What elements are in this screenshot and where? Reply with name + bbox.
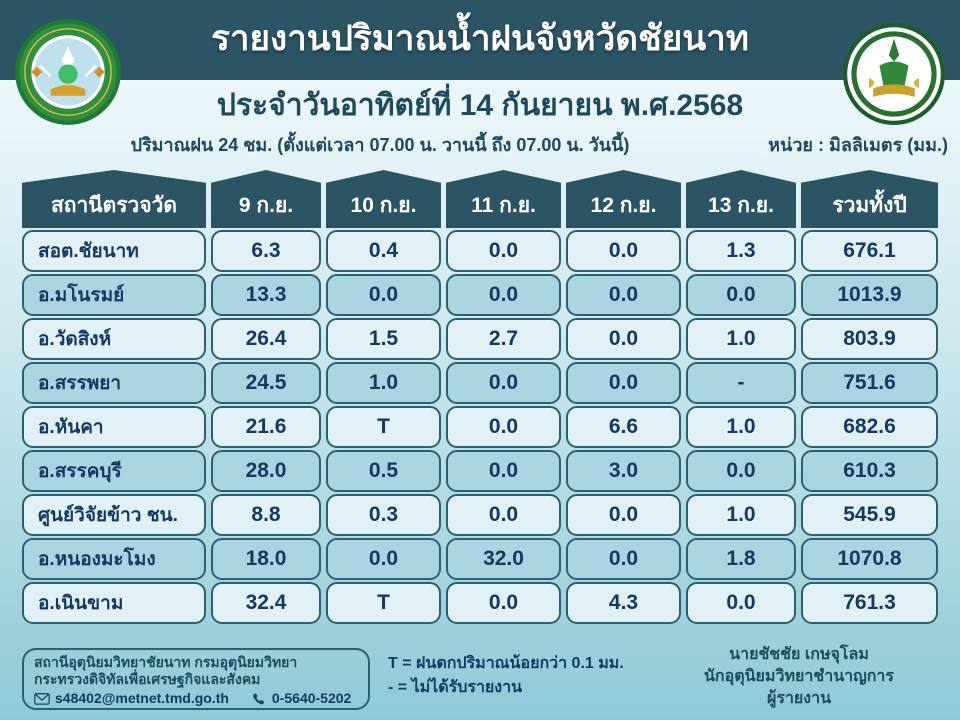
column-header-6[interactable]: รวมทั้งปี [801, 170, 938, 228]
signer-title: นักอุตุนิยมวิทยาชำนาญการ [654, 666, 944, 688]
column-header-2[interactable]: 10 ก.ย. [326, 170, 441, 228]
value-cell: 0.0 [566, 362, 681, 404]
office-contact-box: สถานีอุตุนิยมวิทยาชัยนาท กรมอุตุนิยมวิทย… [22, 648, 370, 710]
value-cell: 1070.8 [801, 538, 938, 580]
rainfall-report-infographic: รายงานปริมาณน้ำฝนจังหวัดชัยนาท ประจำวันอ… [0, 0, 960, 720]
value-cell: 0.0 [566, 230, 681, 272]
column-header-1[interactable]: 9 ก.ย. [211, 170, 321, 228]
station-name-cell: อ.หันคา [22, 406, 206, 448]
value-cell: 0.0 [566, 318, 681, 360]
value-cell: 6.6 [566, 406, 681, 448]
legend-trace: T = ฝนตกปริมาณน้อยกว่า 0.1 มม. [388, 652, 688, 676]
station-name-cell: อ.หนองมะโมง [22, 538, 206, 580]
value-cell: 0.4 [326, 230, 441, 272]
station-name-cell: ศูนย์วิจัยข้าว ชน. [22, 494, 206, 536]
value-cell: 0.0 [326, 274, 441, 316]
period-note: ปริมาณฝน 24 ชม. (ตั้งแต่เวลา 07.00 น. วา… [40, 130, 720, 159]
station-name-cell: อ.สรรพยา [22, 362, 206, 404]
table-column-6: รวมทั้งปี676.11013.9803.9751.6682.6610.3… [801, 170, 938, 624]
value-cell: 32.4 [211, 582, 321, 624]
station-name-cell: สอต.ชัยนาท [22, 230, 206, 272]
legend-no-report: - = ไม่ได้รับรายงาน [388, 676, 688, 700]
value-cell: 24.5 [211, 362, 321, 404]
value-cell: 0.5 [326, 450, 441, 492]
value-cell: T [326, 406, 441, 448]
meteorological-department-logo [14, 18, 122, 126]
value-cell: 0.0 [566, 538, 681, 580]
value-cell: 1.0 [686, 406, 796, 448]
value-cell: 2.7 [446, 318, 561, 360]
signer-role: ผู้รายงาน [654, 688, 944, 710]
value-cell: 21.6 [211, 406, 321, 448]
station-name-cell: อ.มโนรมย์ [22, 274, 206, 316]
value-cell: 13.3 [211, 274, 321, 316]
table-column-0: สถานีตรวจวัดสอต.ชัยนาทอ.มโนรมย์อ.วัดสิงห… [22, 170, 206, 624]
column-header-4[interactable]: 12 ก.ย. [566, 170, 681, 228]
value-cell: 26.4 [211, 318, 321, 360]
value-cell: 0.0 [446, 494, 561, 536]
envelope-icon [34, 691, 50, 706]
value-cell: 1013.9 [801, 274, 938, 316]
column-header-3[interactable]: 11 ก.ย. [446, 170, 561, 228]
table-column-4: 12 ก.ย.0.00.00.00.06.63.00.00.04.3 [566, 170, 681, 624]
office-phone[interactable]: 0-5640-5202 [272, 689, 351, 707]
ministry-digital-economy-society-logo [842, 22, 946, 126]
value-cell: 0.0 [446, 406, 561, 448]
office-line-2: กระทรวงดิจิทัลเพื่อเศรษฐกิจและสังคม [34, 671, 360, 688]
value-cell: 751.6 [801, 362, 938, 404]
value-cell: 1.0 [686, 318, 796, 360]
value-cell: 1.8 [686, 538, 796, 580]
value-cell: 0.0 [686, 274, 796, 316]
table-column-1: 9 ก.ย.6.313.326.424.521.628.08.818.032.4 [211, 170, 321, 624]
value-cell: 610.3 [801, 450, 938, 492]
value-cell: 0.0 [566, 274, 681, 316]
station-name-cell: อ.วัดสิงห์ [22, 318, 206, 360]
office-line-1: สถานีอุตุนิยมวิทยาชัยนาท กรมอุตุนิยมวิทย… [34, 654, 360, 671]
station-name-cell: อ.เนินขาม [22, 582, 206, 624]
value-cell: 1.3 [686, 230, 796, 272]
column-header-5[interactable]: 13 ก.ย. [686, 170, 796, 228]
value-cell: 0.0 [566, 494, 681, 536]
value-cell: 3.0 [566, 450, 681, 492]
value-cell: 0.0 [326, 538, 441, 580]
report-date: ประจำวันอาทิตย์ที่ 14 กันยายน พ.ศ.2568 [120, 88, 840, 124]
value-cell: 18.0 [211, 538, 321, 580]
page-title: รายงานปริมาณน้ำฝนจังหวัดชัยนาท [120, 14, 840, 64]
table-column-2: 10 ก.ย.0.40.01.51.0T0.50.30.0T [326, 170, 441, 624]
table-column-3: 11 ก.ย.0.00.02.70.00.00.00.032.00.0 [446, 170, 561, 624]
value-cell: 0.0 [686, 450, 796, 492]
value-cell: 0.3 [326, 494, 441, 536]
value-cell: 6.3 [211, 230, 321, 272]
value-cell: 0.0 [446, 450, 561, 492]
value-cell: 8.8 [211, 494, 321, 536]
column-header-0[interactable]: สถานีตรวจวัด [22, 170, 206, 228]
value-cell: T [326, 582, 441, 624]
value-cell: 545.9 [801, 494, 938, 536]
value-cell: 682.6 [801, 406, 938, 448]
value-cell: 1.5 [326, 318, 441, 360]
value-cell: 0.0 [446, 230, 561, 272]
signature-block: นายชัชชัย เกษจุโลม นักอุตุนิยมวิทยาชำนาญ… [654, 644, 944, 710]
signer-name: นายชัชชัย เกษจุโลม [654, 644, 944, 666]
value-cell: 32.0 [446, 538, 561, 580]
value-cell: 0.0 [446, 274, 561, 316]
value-cell: 761.3 [801, 582, 938, 624]
value-cell: 0.0 [446, 582, 561, 624]
table-column-5: 13 ก.ย.1.30.01.0-1.00.01.01.80.0 [686, 170, 796, 624]
unit-note: หน่วย : มิลลิเมตร (มม.) [768, 130, 948, 159]
value-cell: - [686, 362, 796, 404]
value-cell: 1.0 [326, 362, 441, 404]
value-cell: 676.1 [801, 230, 938, 272]
value-cell: 803.9 [801, 318, 938, 360]
station-name-cell: อ.สรรคบุรี [22, 450, 206, 492]
value-cell: 0.0 [686, 582, 796, 624]
value-cell: 0.0 [446, 362, 561, 404]
value-cell: 4.3 [566, 582, 681, 624]
rainfall-table: สถานีตรวจวัดสอต.ชัยนาทอ.มโนรมย์อ.วัดสิงห… [0, 170, 960, 625]
telephone-icon [251, 691, 267, 706]
office-email[interactable]: s48402@metnet.tmd.go.th [55, 689, 229, 707]
value-cell: 1.0 [686, 494, 796, 536]
value-cell: 28.0 [211, 450, 321, 492]
legend: T = ฝนตกปริมาณน้อยกว่า 0.1 มม. - = ไม่ได… [388, 652, 688, 700]
